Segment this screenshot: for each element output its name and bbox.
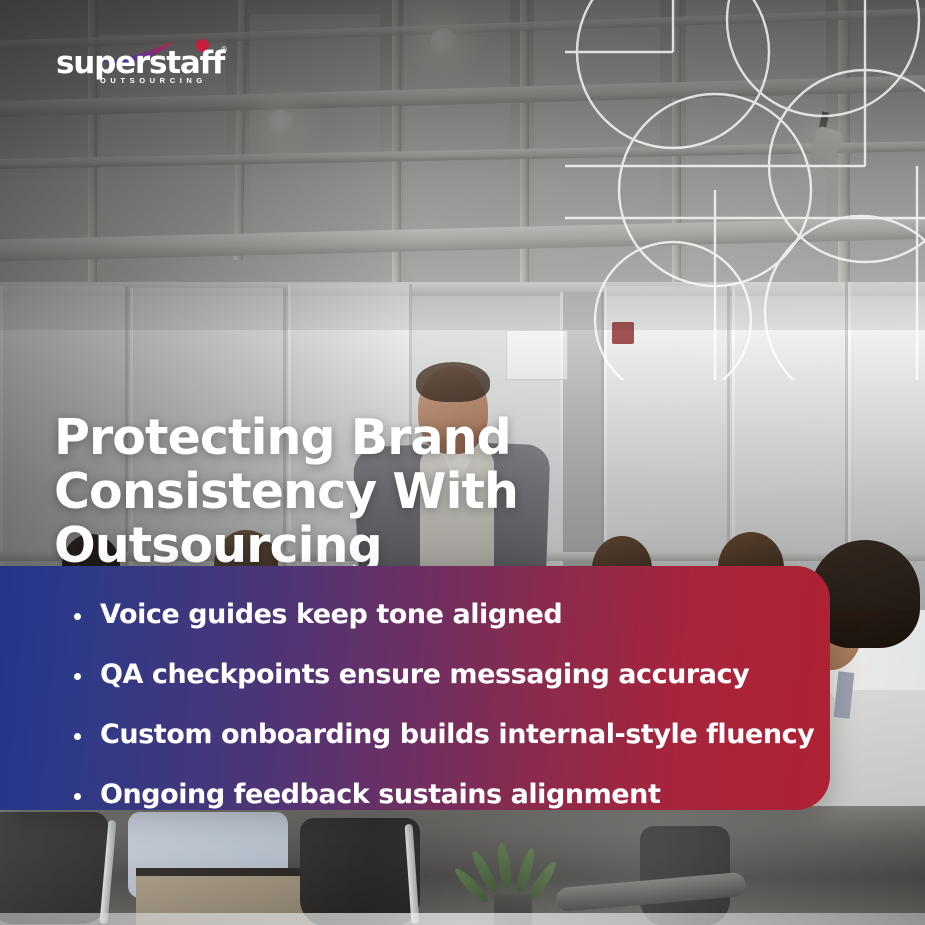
headline-line-3: Outsourcing <box>54 519 574 573</box>
headline-line-2: Consistency With <box>54 465 574 519</box>
brand-logo[interactable]: superstaff ® OUTSOURCING <box>56 40 224 86</box>
list-item: Voice guides keep tone aligned <box>70 590 810 640</box>
headline-line-1: Protecting Brand <box>54 411 574 465</box>
bottom-light-stripe <box>0 913 925 925</box>
bullet-list: Voice guides keep tone aligned QA checkp… <box>70 590 810 830</box>
list-item: Ongoing feedback sustains alignment <box>70 770 810 820</box>
list-item: Custom onboarding builds internal-style … <box>70 710 810 760</box>
page-title: Protecting Brand Consistency With Outsou… <box>54 411 574 573</box>
logo-tagline: OUTSOURCING <box>100 76 207 85</box>
registered-mark: ® <box>221 45 227 54</box>
bullet-panel: Voice guides keep tone aligned QA checkp… <box>0 566 830 810</box>
list-item: QA checkpoints ensure messaging accuracy <box>70 650 810 700</box>
social-card: superstaff ® OUTSOURCING Protecting Bran… <box>0 0 925 925</box>
logo-wordmark: superstaff <box>56 48 224 79</box>
